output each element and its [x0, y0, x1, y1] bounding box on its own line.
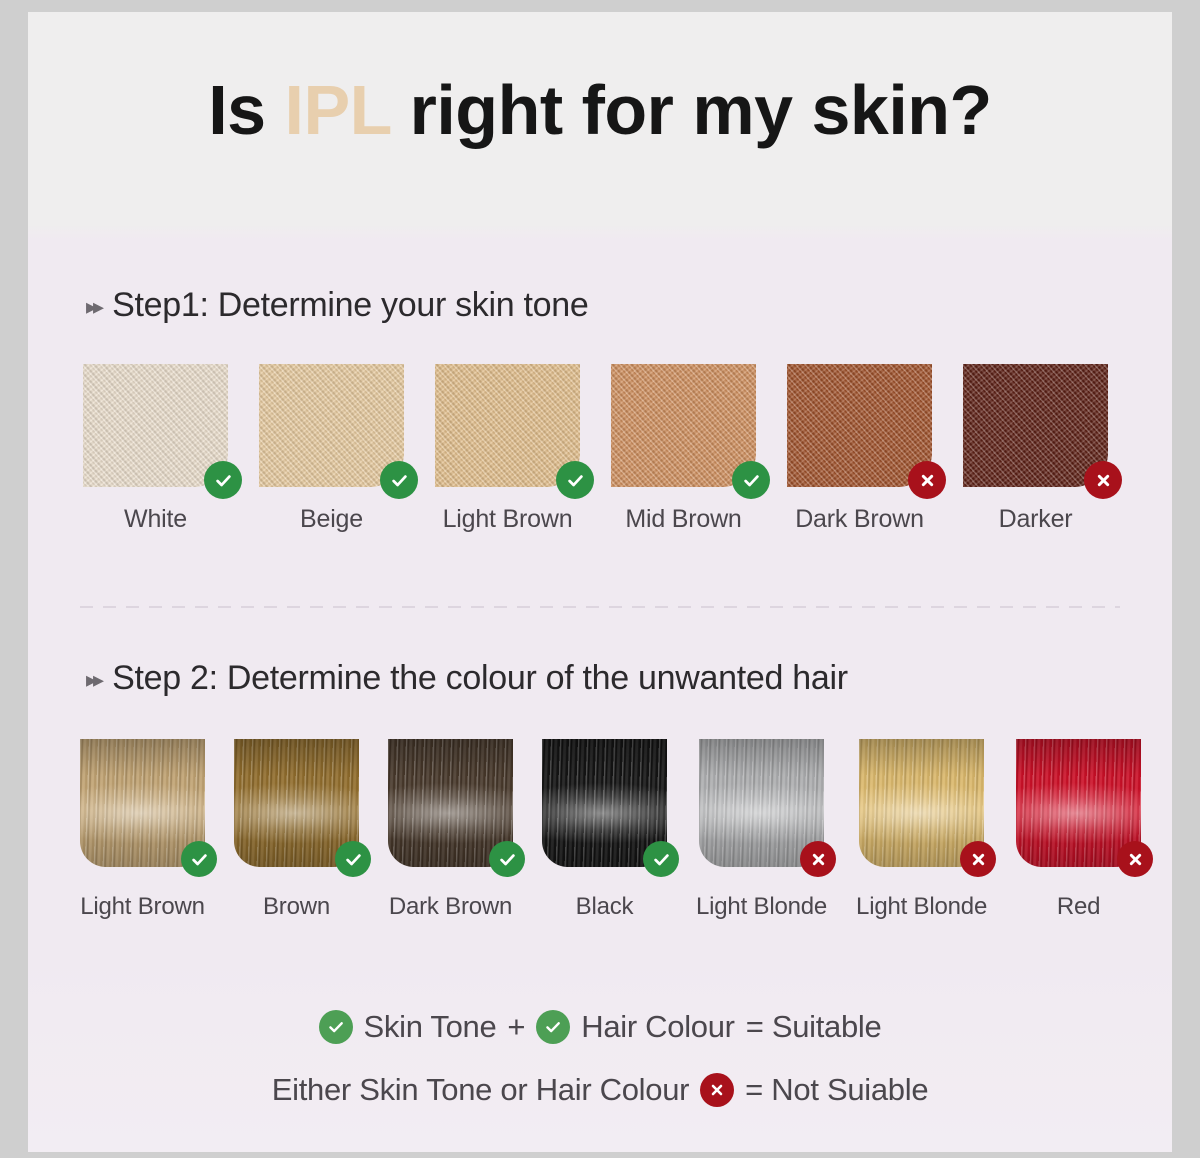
- cross-icon: [960, 841, 996, 877]
- hair-colour-swatch-label: Red: [1057, 893, 1100, 921]
- title-highlight-ipl: IPL: [285, 71, 391, 149]
- check-icon: [536, 1010, 570, 1044]
- legend-not-suitable: Either Skin Tone or Hair Colour = Not Su…: [28, 1072, 1172, 1108]
- page-title: Is IPL right for my skin?: [28, 72, 1172, 149]
- screenshot-frame: Is IPL right for my skin? ▸▸ Step1: Dete…: [0, 0, 1200, 1158]
- hair-colour-swatch-cell[interactable]: Light Brown: [80, 739, 205, 921]
- hair-colour-swatch[interactable]: [234, 739, 359, 867]
- hair-colour-swatch[interactable]: [388, 739, 513, 867]
- check-icon: [380, 461, 418, 499]
- hair-colour-swatch-cell[interactable]: Dark Brown: [388, 739, 513, 921]
- hair-colour-swatch-label: Brown: [263, 893, 330, 921]
- check-icon: [204, 461, 242, 499]
- check-icon: [335, 841, 371, 877]
- hair-colour-swatch-row: Light BrownBrownDark BrownBlackLight Blo…: [80, 739, 1141, 921]
- legend-either-text: Either Skin Tone or Hair Colour: [272, 1072, 689, 1108]
- hair-colour-swatch-label: Dark Brown: [389, 893, 512, 921]
- hair-colour-swatch-label: Light Blonde: [856, 893, 987, 921]
- section-divider: [80, 606, 1120, 608]
- hair-colour-swatch-cell[interactable]: Red: [1016, 739, 1141, 921]
- check-icon: [489, 841, 525, 877]
- skin-tone-swatch-label: Mid Brown: [625, 505, 741, 534]
- skin-tone-swatch[interactable]: [83, 364, 228, 487]
- check-icon: [643, 841, 679, 877]
- skin-tone-swatch-label: White: [124, 505, 187, 534]
- hair-colour-swatch-label: Light Brown: [80, 893, 205, 921]
- skin-tone-swatch[interactable]: [963, 364, 1108, 487]
- check-icon: [732, 461, 770, 499]
- skin-tone-swatch-row: WhiteBeigeLight BrownMid BrownDark Brown…: [83, 364, 1108, 534]
- hair-colour-swatch[interactable]: [542, 739, 667, 867]
- skin-tone-swatch-cell[interactable]: Light Brown: [435, 364, 580, 534]
- hair-colour-swatch[interactable]: [1016, 739, 1141, 867]
- page-title-wrap: Is IPL right for my skin?: [28, 72, 1172, 149]
- step-2-heading: ▸▸ Step 2: Determine the colour of the u…: [86, 659, 848, 698]
- skin-tone-swatch[interactable]: [611, 364, 756, 487]
- hair-colour-swatch-cell[interactable]: Black: [542, 739, 667, 921]
- title-text-after: right for my skin?: [391, 71, 992, 149]
- double-arrow-icon: ▸▸: [86, 669, 100, 691]
- hair-colour-swatch-cell[interactable]: Light Blonde: [856, 739, 987, 921]
- check-icon: [556, 461, 594, 499]
- title-text-before: Is: [208, 71, 284, 149]
- hair-colour-swatch-cell[interactable]: Brown: [234, 739, 359, 921]
- double-arrow-icon: ▸▸: [86, 296, 100, 318]
- hair-colour-swatch[interactable]: [859, 739, 984, 867]
- legend-suitable-result: = Suitable: [746, 1009, 882, 1045]
- legend-suitable: Skin Tone + Hair Colour = Suitable: [28, 1009, 1172, 1045]
- step-2-heading-text: Step 2: Determine the colour of the unwa…: [112, 659, 848, 698]
- skin-tone-swatch-label: Beige: [300, 505, 363, 534]
- hair-colour-swatch[interactable]: [699, 739, 824, 867]
- skin-tone-swatch-label: Dark Brown: [795, 505, 924, 534]
- skin-tone-swatch-cell[interactable]: Beige: [259, 364, 404, 534]
- hair-colour-swatch[interactable]: [80, 739, 205, 867]
- skin-tone-swatch[interactable]: [435, 364, 580, 487]
- legend-not-suitable-result: = Not Suiable: [745, 1072, 928, 1108]
- hair-colour-swatch-label: Light Blonde: [696, 893, 827, 921]
- skin-tone-swatch-cell[interactable]: Dark Brown: [787, 364, 932, 534]
- legend-hair-colour-text: Hair Colour: [581, 1009, 734, 1045]
- hair-colour-swatch-cell[interactable]: Light Blonde: [696, 739, 827, 921]
- cross-icon: [908, 461, 946, 499]
- skin-tone-swatch[interactable]: [787, 364, 932, 487]
- cross-icon: [1117, 841, 1153, 877]
- step-1-heading-text: Step1: Determine your skin tone: [112, 286, 588, 325]
- skin-tone-swatch-cell[interactable]: Darker: [963, 364, 1108, 534]
- legend-plus-sign: +: [507, 1009, 525, 1045]
- skin-tone-swatch-label: Light Brown: [443, 505, 573, 534]
- check-icon: [319, 1010, 353, 1044]
- cross-icon: [1084, 461, 1122, 499]
- cross-icon: [800, 841, 836, 877]
- skin-tone-swatch-cell[interactable]: White: [83, 364, 228, 534]
- check-icon: [181, 841, 217, 877]
- skin-tone-swatch-label: Darker: [999, 505, 1073, 534]
- step-1-heading: ▸▸ Step1: Determine your skin tone: [86, 286, 589, 325]
- hair-colour-swatch-label: Black: [576, 893, 634, 921]
- skin-tone-swatch[interactable]: [259, 364, 404, 487]
- infographic-card: Is IPL right for my skin? ▸▸ Step1: Dete…: [28, 12, 1172, 1152]
- skin-tone-swatch-cell[interactable]: Mid Brown: [611, 364, 756, 534]
- cross-icon: [700, 1073, 734, 1107]
- legend-skin-tone-text: Skin Tone: [364, 1009, 497, 1045]
